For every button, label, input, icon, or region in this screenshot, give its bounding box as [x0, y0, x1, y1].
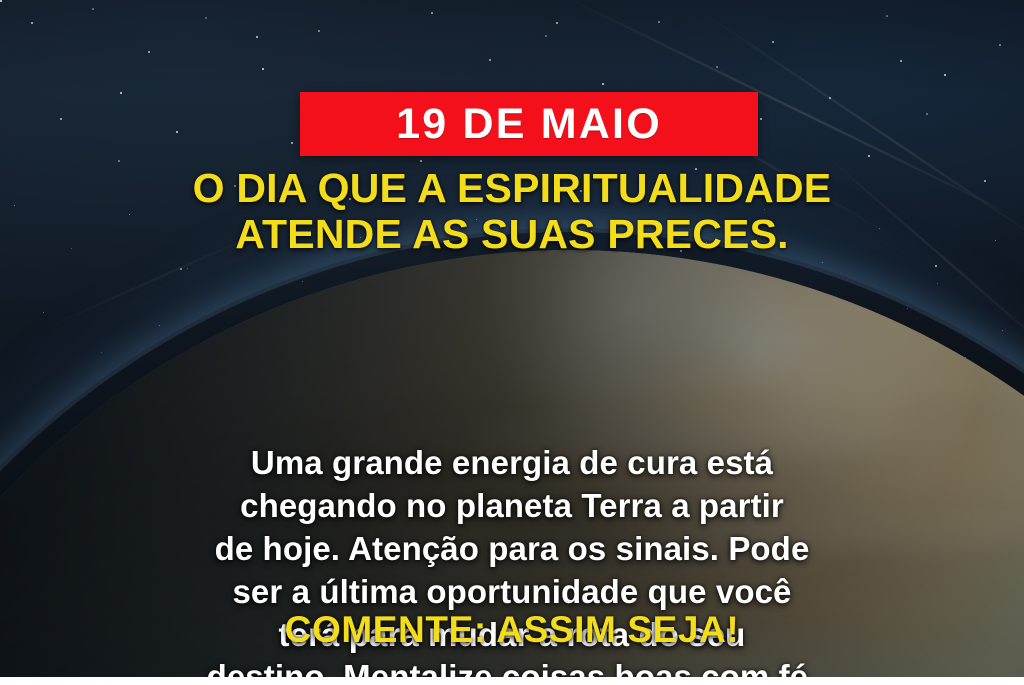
- date-banner-label: 19 DE MAIO: [396, 103, 662, 146]
- call-to-action-text: COMENTE: ASSIM SEJA!: [0, 611, 1024, 648]
- poster-canvas: 19 DE MAIO O DIA QUE A ESPIRITUALIDADE A…: [0, 0, 1024, 685]
- poster-content: 19 DE MAIO O DIA QUE A ESPIRITUALIDADE A…: [0, 0, 1024, 685]
- headline-text: O DIA QUE A ESPIRITUALIDADE ATENDE AS SU…: [0, 166, 1024, 258]
- bottom-white-strip: [0, 677, 1024, 685]
- date-banner: 19 DE MAIO: [300, 92, 758, 156]
